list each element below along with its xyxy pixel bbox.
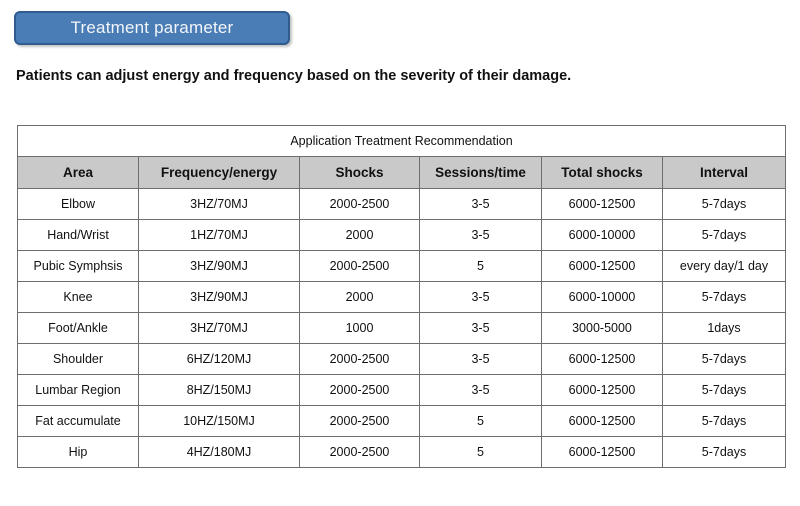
table-title: Application Treatment Recommendation <box>18 126 786 157</box>
treatment-parameter-banner: Treatment parameter <box>14 11 290 45</box>
cell-shocks: 2000-2500 <box>300 437 420 468</box>
banner-title: Treatment parameter <box>71 18 234 38</box>
cell-interval: 5-7days <box>663 406 786 437</box>
column-header-total-shocks: Total shocks <box>542 157 663 189</box>
cell-total-shocks: 6000-12500 <box>542 251 663 282</box>
cell-area: Hip <box>18 437 139 468</box>
cell-shocks: 2000-2500 <box>300 251 420 282</box>
cell-total-shocks: 6000-12500 <box>542 375 663 406</box>
cell-sessions: 3-5 <box>420 220 542 251</box>
cell-sessions: 5 <box>420 437 542 468</box>
table-row: Fat accumulate 10HZ/150MJ 2000-2500 5 60… <box>18 406 786 437</box>
cell-interval: every day/1 day <box>663 251 786 282</box>
cell-frequency: 1HZ/70MJ <box>139 220 300 251</box>
cell-interval: 5-7days <box>663 282 786 313</box>
recommendation-table-container: Application Treatment Recommendation Are… <box>17 125 785 468</box>
cell-area: Hand/Wrist <box>18 220 139 251</box>
cell-total-shocks: 6000-12500 <box>542 344 663 375</box>
column-header-interval: Interval <box>663 157 786 189</box>
cell-interval: 1days <box>663 313 786 344</box>
cell-area: Fat accumulate <box>18 406 139 437</box>
cell-frequency: 3HZ/90MJ <box>139 251 300 282</box>
cell-shocks: 1000 <box>300 313 420 344</box>
cell-interval: 5-7days <box>663 375 786 406</box>
cell-sessions: 5 <box>420 406 542 437</box>
cell-sessions: 3-5 <box>420 189 542 220</box>
column-header-sessions: Sessions/time <box>420 157 542 189</box>
cell-sessions: 3-5 <box>420 375 542 406</box>
table-row: Shoulder 6HZ/120MJ 2000-2500 3-5 6000-12… <box>18 344 786 375</box>
cell-sessions: 5 <box>420 251 542 282</box>
cell-frequency: 8HZ/150MJ <box>139 375 300 406</box>
table-row: Elbow 3HZ/70MJ 2000-2500 3-5 6000-12500 … <box>18 189 786 220</box>
table-row: Lumbar Region 8HZ/150MJ 2000-2500 3-5 60… <box>18 375 786 406</box>
cell-interval: 5-7days <box>663 344 786 375</box>
cell-sessions: 3-5 <box>420 344 542 375</box>
column-header-shocks: Shocks <box>300 157 420 189</box>
cell-frequency: 4HZ/180MJ <box>139 437 300 468</box>
table-header-row: Area Frequency/energy Shocks Sessions/ti… <box>18 157 786 189</box>
cell-shocks: 2000-2500 <box>300 344 420 375</box>
table-title-row: Application Treatment Recommendation <box>18 126 786 157</box>
cell-frequency: 3HZ/70MJ <box>139 189 300 220</box>
cell-area: Foot/Ankle <box>18 313 139 344</box>
cell-frequency: 10HZ/150MJ <box>139 406 300 437</box>
cell-frequency: 6HZ/120MJ <box>139 344 300 375</box>
cell-area: Pubic Symphsis <box>18 251 139 282</box>
cell-total-shocks: 3000-5000 <box>542 313 663 344</box>
table-row: Knee 3HZ/90MJ 2000 3-5 6000-10000 5-7day… <box>18 282 786 313</box>
cell-shocks: 2000 <box>300 282 420 313</box>
cell-area: Elbow <box>18 189 139 220</box>
table-body: Application Treatment Recommendation Are… <box>18 126 786 468</box>
cell-interval: 5-7days <box>663 220 786 251</box>
cell-interval: 5-7days <box>663 437 786 468</box>
cell-area: Shoulder <box>18 344 139 375</box>
subtitle-text: Patients can adjust energy and frequency… <box>16 68 571 84</box>
table-row: Hand/Wrist 1HZ/70MJ 2000 3-5 6000-10000 … <box>18 220 786 251</box>
application-treatment-recommendation-table: Application Treatment Recommendation Are… <box>17 125 786 468</box>
cell-area: Lumbar Region <box>18 375 139 406</box>
cell-total-shocks: 6000-10000 <box>542 282 663 313</box>
cell-frequency: 3HZ/70MJ <box>139 313 300 344</box>
cell-shocks: 2000 <box>300 220 420 251</box>
cell-shocks: 2000-2500 <box>300 375 420 406</box>
cell-interval: 5-7days <box>663 189 786 220</box>
cell-shocks: 2000-2500 <box>300 189 420 220</box>
cell-total-shocks: 6000-12500 <box>542 437 663 468</box>
cell-sessions: 3-5 <box>420 313 542 344</box>
cell-sessions: 3-5 <box>420 282 542 313</box>
column-header-frequency: Frequency/energy <box>139 157 300 189</box>
cell-total-shocks: 6000-10000 <box>542 220 663 251</box>
table-row: Foot/Ankle 3HZ/70MJ 1000 3-5 3000-5000 1… <box>18 313 786 344</box>
cell-shocks: 2000-2500 <box>300 406 420 437</box>
column-header-area: Area <box>18 157 139 189</box>
table-row: Hip 4HZ/180MJ 2000-2500 5 6000-12500 5-7… <box>18 437 786 468</box>
table-row: Pubic Symphsis 3HZ/90MJ 2000-2500 5 6000… <box>18 251 786 282</box>
cell-total-shocks: 6000-12500 <box>542 406 663 437</box>
cell-total-shocks: 6000-12500 <box>542 189 663 220</box>
cell-frequency: 3HZ/90MJ <box>139 282 300 313</box>
cell-area: Knee <box>18 282 139 313</box>
